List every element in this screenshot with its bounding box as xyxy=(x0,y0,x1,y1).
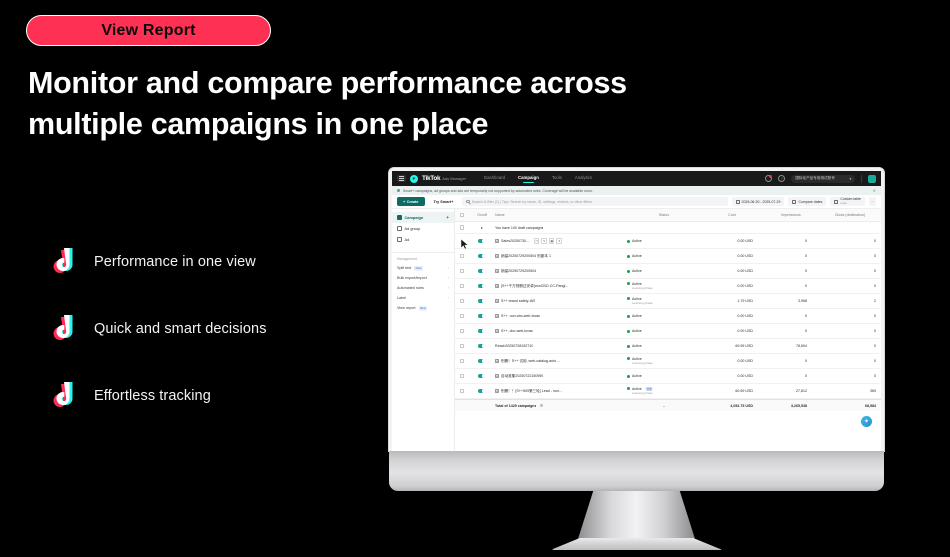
view-report-badge-label: View Report xyxy=(101,22,195,40)
row-checkbox-cell[interactable] xyxy=(455,374,469,378)
campaign-name: S++ brand safety-IAS xyxy=(501,299,535,303)
row-checkbox-cell[interactable] xyxy=(455,389,469,393)
onoff-toggle-cell[interactable] xyxy=(469,284,495,289)
sidebar-item-label[interactable]: Label › xyxy=(392,293,454,303)
header-status: Status xyxy=(627,213,701,217)
chevron-down-icon: ▾ xyxy=(850,177,852,181)
clicks-cell: 0 xyxy=(819,269,881,273)
add-campaign-icon[interactable]: + xyxy=(446,215,449,220)
campaign-name-cell[interactable]: ■ 别删！！[S++509第三轮] Lead - non... xyxy=(495,389,627,394)
onoff-toggle-cell[interactable] xyxy=(469,254,495,259)
onoff-toggle-cell[interactable] xyxy=(469,344,495,349)
clicks-cell: 0 xyxy=(819,359,881,363)
checkbox[interactable] xyxy=(460,254,464,258)
cost-cell: 0.00 USD xyxy=(701,269,763,273)
campaign-name: 别删！！[S++509第三轮] Lead - non... xyxy=(501,389,562,394)
status-cell: Active xyxy=(627,239,701,243)
campaign-name-cell[interactable]: ■ S++, non-cbo-web-tcvas xyxy=(495,314,627,318)
campaign-name: Reach20250728152710 xyxy=(495,344,533,348)
clicks-cell: 2 xyxy=(819,299,881,303)
list-item: Quick and smart decisions xyxy=(44,295,374,362)
campaign-type-icon: ■ xyxy=(495,329,499,333)
hamburger-icon[interactable] xyxy=(397,175,406,182)
sidebar-item-label: Automated rules xyxy=(397,286,424,290)
toggle-switch[interactable] xyxy=(478,269,487,274)
onoff-toggle-cell[interactable] xyxy=(469,329,495,334)
table-row[interactable]: ■ 销量20250729200504 的副本 1 Active 0.00 USD… xyxy=(455,249,881,264)
clicks-cell: 0 xyxy=(819,239,881,243)
checkbox[interactable] xyxy=(460,225,464,229)
sidebar-item-label: Bulk export/import xyxy=(397,276,427,280)
checkbox[interactable] xyxy=(460,314,464,318)
clicks-cell: 0 xyxy=(819,314,881,318)
status-dot xyxy=(627,375,630,378)
campaign-name-cell[interactable]: ■ S++, cbo-web-tcvas xyxy=(495,329,627,333)
campaign-name-cell[interactable]: ■ 自动准集20250722150959 xyxy=(495,374,627,379)
table-icon xyxy=(834,200,838,204)
copy-icon[interactable]: ▣ xyxy=(549,238,555,244)
compare-dates-button[interactable]: Compare dates xyxy=(788,197,826,206)
campaign-type-icon: ■ xyxy=(495,299,499,303)
cost-cell: 0.00 USD xyxy=(701,314,763,318)
status-dot xyxy=(627,255,630,258)
status-dot xyxy=(627,297,630,300)
status-dot xyxy=(627,357,630,360)
expand-cell[interactable]: ▸ xyxy=(469,225,495,230)
impressions-cell: 0 xyxy=(763,254,819,258)
campaign-name-cell[interactable]: ■ Sales20250730... ▭ ✎ ▣ ▾ xyxy=(495,238,627,244)
headline-line-2: multiple campaigns in one place xyxy=(28,104,828,145)
checkbox[interactable] xyxy=(460,299,464,303)
header-onoff: On/off xyxy=(469,213,495,217)
sparkle-assistant-icon[interactable]: ✦ xyxy=(861,416,872,427)
help-circle-icon[interactable]: ? xyxy=(778,175,785,182)
status-dot xyxy=(627,345,630,348)
plus-icon: + xyxy=(403,200,405,204)
sidebar-item-campaign[interactable]: Campaign + xyxy=(392,212,454,223)
page-headline: Monitor and compare performance across m… xyxy=(28,63,828,145)
tiktok-note-icon xyxy=(44,245,78,279)
row-checkbox-cell[interactable] xyxy=(455,225,469,229)
compare-icon xyxy=(792,200,796,204)
row-checkbox-cell[interactable] xyxy=(455,269,469,273)
onoff-toggle-cell[interactable] xyxy=(469,359,495,364)
impressions-cell: 0 xyxy=(763,329,819,333)
sidebar-section-management: Management xyxy=(392,252,454,263)
compare-dates-label: Compare dates xyxy=(798,200,822,204)
status-dot xyxy=(627,330,630,333)
checkbox[interactable] xyxy=(460,329,464,333)
create-button-label: Create xyxy=(407,200,419,204)
status-label: Active xyxy=(632,254,642,258)
toggle-switch[interactable] xyxy=(478,239,487,244)
sidebar-item-label: Label xyxy=(397,296,406,300)
row-checkbox-cell[interactable] xyxy=(455,359,469,363)
row-checkbox-cell[interactable] xyxy=(455,284,469,288)
status-cell: Active xyxy=(627,344,701,348)
grid-icon[interactable] xyxy=(868,175,876,183)
campaign-name: S++, cbo-web-tcvas xyxy=(501,329,533,333)
sidebar-item-view-report[interactable]: View report New xyxy=(392,303,454,313)
campaign-type-icon: ■ xyxy=(495,284,499,288)
status-cell: Active Learning phase xyxy=(627,357,701,365)
app-topnav: P TikTok Ads Manager Dashboard Campaign … xyxy=(392,171,881,186)
cost-cell: 0.00 USD xyxy=(701,239,763,243)
toggle-switch[interactable] xyxy=(478,284,487,289)
status-cell: Active Learning phase xyxy=(627,297,701,305)
monitor-bezel: P TikTok Ads Manager Dashboard Campaign … xyxy=(389,168,884,451)
status-sublabel: Learning phase xyxy=(632,391,653,395)
notice-text: Smart+ campaigns, ad groups and ads are … xyxy=(403,189,593,193)
ad-icon xyxy=(397,237,402,242)
onoff-toggle-cell[interactable] xyxy=(469,299,495,304)
tab-dashboard[interactable]: Dashboard xyxy=(484,175,505,182)
toggle-switch[interactable] xyxy=(478,299,487,304)
status-label: Active xyxy=(632,269,642,273)
monitor-chin xyxy=(389,451,884,491)
tiktok-note-icon xyxy=(44,379,78,413)
status-cell: Active xyxy=(627,314,701,318)
create-button[interactable]: + Create xyxy=(397,197,425,206)
toggle-switch[interactable] xyxy=(478,344,487,349)
total-label: Total of 1425 campaigns xyxy=(495,404,536,408)
status-cell: Active Learning phase xyxy=(627,282,701,290)
table-row[interactable]: ■ 别删！！[S++509第三轮] Lead - non... Active 智… xyxy=(455,384,881,399)
chevron-right-icon: › xyxy=(448,266,449,270)
cost-cell: 0.00 USD xyxy=(701,254,763,258)
status-label: Active xyxy=(632,314,642,318)
list-item: Effortless tracking xyxy=(44,362,374,429)
topnav-right: ? 国际化产品专用测试账号 ▾ xyxy=(765,175,876,183)
search-icon xyxy=(466,200,470,204)
account-name: 国际化产品专用测试账号 xyxy=(795,176,835,181)
cost-cell: 1.79 USD xyxy=(701,299,763,303)
sidebar-item-split-test[interactable]: Split test New › xyxy=(392,263,454,273)
sidebar-item-label: Campaign xyxy=(405,215,424,220)
status-sublabel: Learning phase xyxy=(632,286,653,290)
search-placeholder: Search & filter (2) | Tips: Search by na… xyxy=(472,200,592,204)
feature-label: Performance in one view xyxy=(94,254,256,270)
toggle-switch[interactable] xyxy=(478,329,487,334)
divider xyxy=(861,175,862,183)
header-name: Name xyxy=(495,213,627,217)
campaign-name: Sales20250730... xyxy=(501,239,529,243)
toggle-switch[interactable] xyxy=(478,359,487,364)
table-header-row: On/off Name Status Cost Impressions Clic… xyxy=(455,209,881,222)
monitor-stand-foot xyxy=(551,538,723,550)
total-clicks: 68,584 xyxy=(819,404,881,408)
total-impressions: 3,265,538 xyxy=(763,404,819,408)
campaign-name: S++, non-cbo-web-tcvas xyxy=(501,314,540,318)
status-cell: Active xyxy=(627,254,701,258)
status-cell: Active xyxy=(627,269,701,273)
row-checkbox-cell[interactable] xyxy=(455,314,469,318)
status-dot xyxy=(627,315,630,318)
try-smart-plus-button[interactable]: Try Smart+ xyxy=(429,197,459,206)
custom-table-sub: Lead xyxy=(840,202,861,205)
checkbox[interactable] xyxy=(460,389,464,393)
table-row[interactable]: ■ S++ brand safety-IAS Active Learning p… xyxy=(455,294,881,309)
onoff-toggle-cell[interactable] xyxy=(469,389,495,394)
sidebar-item-ad-group[interactable]: Ad group xyxy=(392,223,454,234)
info-icon xyxy=(397,189,400,192)
chevron-down-icon[interactable]: ▾ xyxy=(556,238,562,244)
table-row[interactable]: ■ 销量20250729200504 Active 0.00 USD 0 0 xyxy=(455,264,881,279)
header-cost: Cost xyxy=(701,213,763,217)
tab-tools[interactable]: Tools xyxy=(552,175,562,182)
product-name: Ads Manager xyxy=(442,176,466,181)
main-nav: Dashboard Campaign Tools Analytics xyxy=(484,175,592,182)
status-dot xyxy=(627,240,630,243)
app-sidebar: Campaign + Ad group Ad Management Split … xyxy=(392,209,455,451)
table-row[interactable]: ■ Sales20250730... ▭ ✎ ▣ ▾ Active xyxy=(455,234,881,249)
tab-analytics[interactable]: Analytics xyxy=(575,175,592,182)
impressions-cell: 27,812 xyxy=(763,389,819,393)
campaign-icon xyxy=(397,215,402,220)
impressions-cell: 0 xyxy=(763,374,819,378)
total-status: - xyxy=(627,404,701,408)
impressions-cell: 0 xyxy=(763,284,819,288)
tiktok-logo: TikTok xyxy=(422,175,440,182)
cost-cell: 0.00 USD xyxy=(701,374,763,378)
list-item: Performance in one view xyxy=(44,228,374,295)
chart-icon[interactable]: ▭ xyxy=(534,238,540,244)
feature-list: Performance in one view Quick and smart … xyxy=(44,228,374,429)
impressions-cell: 0 xyxy=(763,239,819,243)
total-cost: 4,052.75 USD xyxy=(701,404,763,408)
table-row[interactable]: ■ 自动准集20250722150959 Active 0.00 USD 0 0 xyxy=(455,369,881,384)
impressions-cell: 0 xyxy=(763,269,819,273)
date-range-picker[interactable]: 2025-06-30 - 2025-07-29 xyxy=(732,197,785,206)
checkbox[interactable] xyxy=(460,213,464,217)
chevron-right-icon: › xyxy=(448,296,449,300)
table-row[interactable]: ■ [S++千万别删过安卓]nonCBO-CC-Pangl... Active … xyxy=(455,279,881,294)
cost-cell: 0.00 USD xyxy=(701,329,763,333)
toggle-switch[interactable] xyxy=(478,314,487,319)
info-icon[interactable]: i xyxy=(540,404,543,407)
cost-cell: 60.59 USD xyxy=(701,389,763,393)
row-checkbox-cell[interactable] xyxy=(455,254,469,258)
status-dot xyxy=(627,282,630,285)
cost-cell: 0.00 USD xyxy=(701,284,763,288)
status-label: Active xyxy=(632,344,642,348)
checkbox[interactable] xyxy=(460,359,464,363)
status-cell: Active 智能 Learning phase xyxy=(627,387,701,395)
toggle-switch[interactable] xyxy=(478,374,487,379)
feature-label: Quick and smart decisions xyxy=(94,321,267,337)
status-dot xyxy=(627,270,630,273)
app-screen: P TikTok Ads Manager Dashboard Campaign … xyxy=(392,171,881,451)
toggle-switch[interactable] xyxy=(478,389,487,394)
close-icon[interactable]: ✕ xyxy=(873,188,876,193)
campaign-name-cell[interactable]: ■ 销量20250729200504 xyxy=(495,269,627,274)
clicks-cell: 0 xyxy=(819,284,881,288)
table-row[interactable]: ■ 别删！S++ 试用, web-catalog-auto ... Active… xyxy=(455,354,881,369)
sidebar-item-label: View report xyxy=(397,306,416,310)
ellipsis-icon[interactable]: ⋯ xyxy=(869,197,876,206)
sidebar-item-label: Ad group xyxy=(405,226,421,231)
header-impressions: Impressions xyxy=(763,213,819,217)
table-row[interactable]: ■ S++, non-cbo-web-tcvas Active 0.00 USD… xyxy=(455,309,881,324)
campaign-name: 别删！S++ 试用, web-catalog-auto ... xyxy=(501,359,560,364)
tiktok-note-icon xyxy=(44,312,78,346)
row-checkbox-cell[interactable] xyxy=(455,329,469,333)
status-label: Active xyxy=(632,239,642,243)
campaign-name: 销量20250729200504 的副本 1 xyxy=(501,254,551,259)
sidebar-item-label: Split test xyxy=(397,266,411,270)
onoff-toggle-cell[interactable] xyxy=(469,269,495,274)
campaign-name: 自动准集20250722150959 xyxy=(501,374,543,379)
clicks-cell: 369 xyxy=(819,389,881,393)
toggle-switch[interactable] xyxy=(478,254,487,259)
mouse-cursor-icon xyxy=(460,238,465,244)
campaign-name: [S++千万别删过安卓]nonCBO-CC-Pangl... xyxy=(501,284,568,289)
impressions-cell: 0 xyxy=(763,359,819,363)
notice-banner: Smart+ campaigns, ad groups and ads are … xyxy=(392,186,881,195)
checkbox[interactable] xyxy=(460,284,464,288)
campaign-type-icon: ■ xyxy=(495,269,499,273)
chevron-right-icon: › xyxy=(448,286,449,290)
clicks-cell: 0 xyxy=(819,344,881,348)
status-label: Active xyxy=(632,329,642,333)
campaign-name-cell[interactable]: ■ S++ brand safety-IAS xyxy=(495,299,627,303)
checkbox[interactable] xyxy=(460,344,464,348)
impressions-cell: 3,968 xyxy=(763,299,819,303)
ad-group-icon xyxy=(397,226,402,231)
campaign-name-cell[interactable]: Reach20250728152710 xyxy=(495,344,627,348)
onoff-toggle-cell[interactable] xyxy=(469,239,495,244)
checkbox[interactable] xyxy=(460,374,464,378)
status-label: Active xyxy=(632,374,642,378)
tab-campaign[interactable]: Campaign xyxy=(518,175,539,182)
new-badge: New xyxy=(419,306,428,311)
search-input[interactable]: Search & filter (2) | Tips: Search by na… xyxy=(462,197,727,206)
campaign-type-icon: ■ xyxy=(495,389,499,393)
app-toolbar: + Create Try Smart+ Search & filter (2) … xyxy=(392,195,881,209)
app-body: Campaign + Ad group Ad Management Split … xyxy=(392,209,881,451)
chevron-right-icon: › xyxy=(448,276,449,280)
campaign-name-cell[interactable]: ■ 别删！S++ 试用, web-catalog-auto ... xyxy=(495,359,627,364)
clicks-cell: 0 xyxy=(819,329,881,333)
status-cell: Active xyxy=(627,374,701,378)
status-sublabel: Learning phase xyxy=(632,361,653,365)
cost-cell: 0.00 USD xyxy=(701,359,763,363)
table-total-row: Total of 1425 campaignsi - 4,052.75 USD … xyxy=(455,399,881,411)
table-row[interactable]: ■ S++, cbo-web-tcvas Active 0.00 USD 0 0 xyxy=(455,324,881,339)
status-sublabel: Learning phase xyxy=(632,301,653,305)
date-range-label: 2025-06-30 - 2025-07-29 xyxy=(742,200,781,204)
campaign-type-icon: ■ xyxy=(495,374,499,378)
campaign-type-icon: ■ xyxy=(495,254,499,258)
table-row[interactable]: Reach20250728152710 Active 69.95 USD 78,… xyxy=(455,339,881,354)
calendar-icon xyxy=(736,200,740,204)
status-dot xyxy=(627,387,630,390)
sidebar-item-automated-rules[interactable]: Automated rules › xyxy=(392,283,454,293)
status-cell: Active xyxy=(627,329,701,333)
clicks-cell: 0 xyxy=(819,374,881,378)
feature-label: Effortless tracking xyxy=(94,388,211,404)
impressions-cell: 78,604 xyxy=(763,344,819,348)
sidebar-item-ad[interactable]: Ad xyxy=(392,234,454,245)
clicks-cell: 0 xyxy=(819,254,881,258)
headline-line-1: Monitor and compare performance across xyxy=(28,63,828,104)
campaign-type-icon: ■ xyxy=(495,239,499,243)
campaign-type-icon: ■ xyxy=(495,314,499,318)
campaign-name-cell[interactable]: ■ [S++千万别删过安卓]nonCBO-CC-Pangl... xyxy=(495,284,627,289)
impressions-cell: 0 xyxy=(763,314,819,318)
cost-cell: 69.95 USD xyxy=(701,344,763,348)
campaign-name-cell[interactable]: ■ 销量20250729200504 的副本 1 xyxy=(495,254,627,259)
draft-campaigns-row[interactable]: ▸ You have 100 draft campaigns xyxy=(455,222,881,234)
sidebar-item-label: Ad xyxy=(405,237,410,242)
campaign-name: 销量20250729200504 xyxy=(501,269,536,274)
view-report-badge[interactable]: View Report xyxy=(26,15,271,46)
campaign-table: On/off Name Status Cost Impressions Clic… xyxy=(455,209,881,451)
row-checkbox-cell[interactable] xyxy=(455,344,469,348)
checkbox[interactable] xyxy=(460,269,464,273)
campaign-type-icon: ■ xyxy=(495,359,499,363)
draft-campaigns-label: You have 100 draft campaigns xyxy=(495,226,543,230)
bell-icon[interactable] xyxy=(765,175,772,182)
custom-table-button[interactable]: Custom table Lead xyxy=(830,197,865,206)
onoff-toggle-cell[interactable] xyxy=(469,314,495,319)
select-all-cell[interactable] xyxy=(455,213,469,217)
row-checkbox-cell[interactable] xyxy=(455,299,469,303)
row-checkbox-cell[interactable] xyxy=(455,238,469,244)
row-actions[interactable]: ▭ ✎ ▣ ▾ xyxy=(534,238,562,244)
avatar[interactable]: P xyxy=(410,175,418,183)
monitor-stand-neck xyxy=(578,491,695,539)
new-badge: New xyxy=(414,266,423,271)
onoff-toggle-cell[interactable] xyxy=(469,374,495,379)
account-selector[interactable]: 国际化产品专用测试账号 ▾ xyxy=(791,175,855,183)
header-clicks: Clicks (destination) xyxy=(819,213,881,217)
sidebar-item-bulk-export-import[interactable]: Bulk export/import › xyxy=(392,273,454,283)
notification-dot xyxy=(769,175,772,178)
edit-icon[interactable]: ✎ xyxy=(541,238,547,244)
monitor-mockup: P TikTok Ads Manager Dashboard Campaign … xyxy=(389,168,884,550)
